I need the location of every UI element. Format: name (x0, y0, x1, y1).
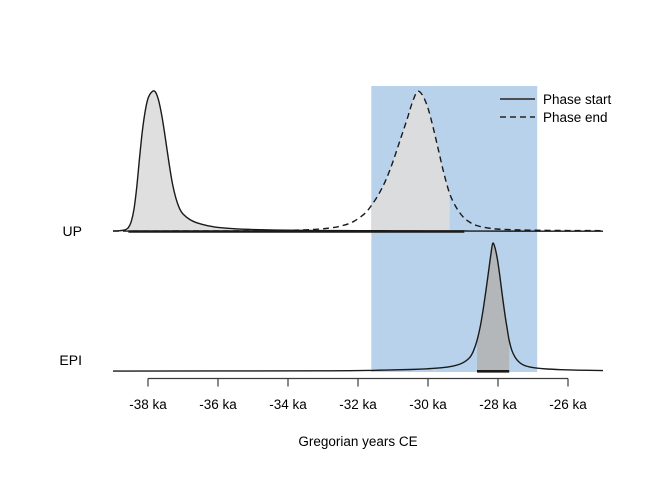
x-axis-tick-label: -28 ka (479, 397, 517, 412)
x-axis-tick-label: -30 ka (409, 397, 447, 412)
x-axis-tick-label: -38 ka (129, 397, 167, 412)
x-axis-tick-label: -34 ka (269, 397, 307, 412)
density-plot-figure: UP EPI -38 ka-36 ka-34 ka-32 ka-30 ka-28… (0, 0, 672, 480)
row-label-up: UP (63, 223, 82, 239)
x-axis-tick-label: -32 ka (339, 397, 377, 412)
row-label-epi: EPI (59, 352, 82, 368)
legend-label-phase-end: Phase end (543, 110, 608, 125)
x-axis-tick-label: -26 ka (549, 397, 587, 412)
x-axis-title: Gregorian years CE (298, 434, 417, 449)
plot-canvas: UP EPI -38 ka-36 ka-34 ka-32 ka-30 ka-28… (0, 0, 672, 480)
x-axis-tick-label: -36 ka (199, 397, 237, 412)
legend-label-phase-start: Phase start (543, 92, 612, 107)
